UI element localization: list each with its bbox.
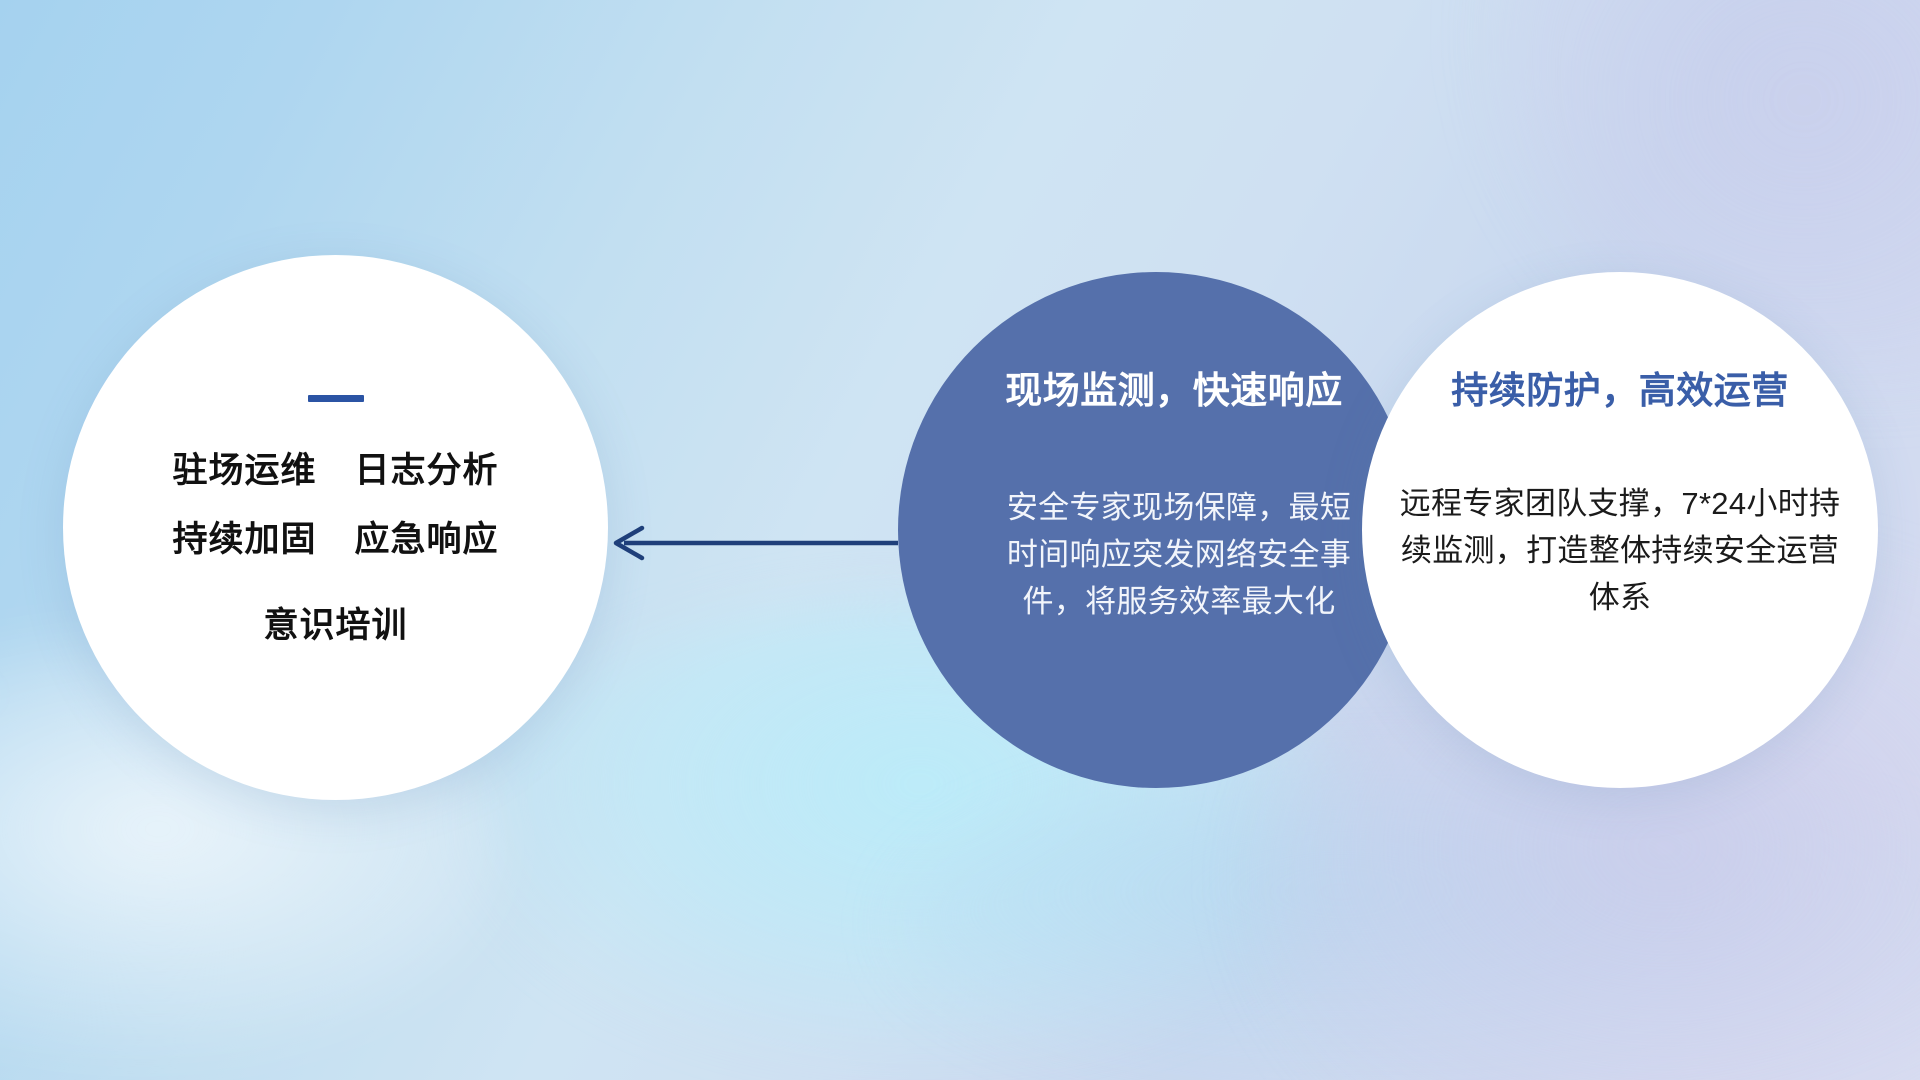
right-card[interactable]: 持续防护，高效运营 远程专家团队支撑，7*24小时持续监测，打造整体持续安全运营…	[1362, 272, 1878, 788]
middle-card-title: 现场监测，快速响应	[1005, 360, 1343, 414]
tag-item[interactable]: 持续加固	[172, 519, 316, 560]
right-card-body: 远程专家团队支撑，7*24小时持续监测，打造整体持续安全运营体系	[1394, 480, 1846, 621]
tag-row-2: 持续加固 应急响应	[172, 519, 498, 560]
tag-item[interactable]: 应急响应	[355, 519, 499, 560]
middle-card-body: 安全专家现场保障，最短时间响应突发网络安全事件，将服务效率最大化	[1000, 484, 1358, 625]
tag-item[interactable]: 驻场运维	[172, 450, 316, 491]
middle-card[interactable]: 现场监测，快速响应 安全专家现场保障，最短时间响应突发网络安全事件，将服务效率最…	[898, 272, 1414, 788]
slide-canvas: 驻场运维 日志分析 持续加固 应急响应 意识培训 现场监测，快速响应 安全专家现…	[0, 0, 1920, 1080]
tag-item[interactable]: 日志分析	[355, 450, 499, 491]
tag-item[interactable]: 意识培训	[263, 605, 407, 646]
tag-row-1: 驻场运维 日志分析	[172, 450, 498, 491]
right-card-title: 持续防护，高效运营	[1451, 360, 1789, 414]
arrow-left-icon	[600, 515, 900, 575]
tag-row-3: 意识培训	[263, 605, 407, 646]
left-card[interactable]: 驻场运维 日志分析 持续加固 应急响应 意识培训	[63, 255, 608, 800]
left-card-divider	[308, 395, 364, 402]
